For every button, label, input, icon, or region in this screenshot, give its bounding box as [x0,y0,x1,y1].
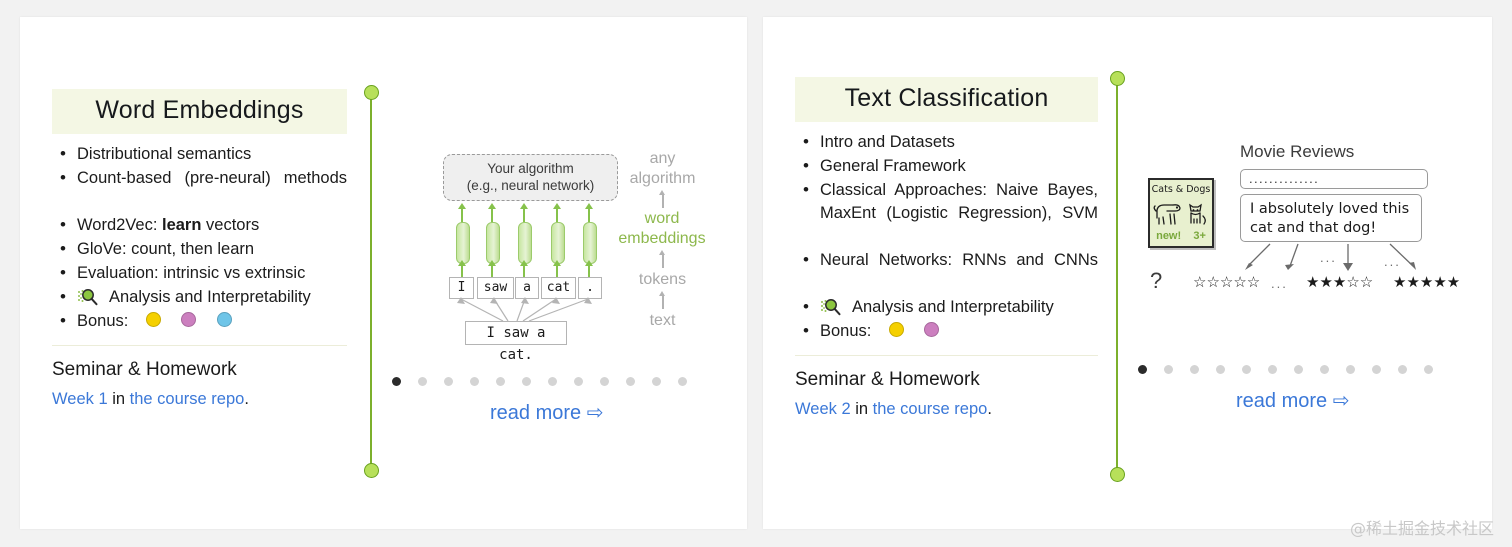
token-arrow-up [523,265,525,277]
embedding-bar [456,222,470,264]
timeline-node-top[interactable] [364,85,379,100]
arrow-ellipsis: ... [1384,254,1401,269]
card-text-column: Word Embeddings Distributional semantics… [52,89,347,409]
week-line: Week 2 in the course repo. [795,400,1098,419]
timeline-line [370,92,372,470]
stack-arrow [662,254,664,268]
list-item[interactable]: Count-based (pre-neural) methods [52,167,347,213]
card-title-band: Text Classification [795,77,1098,122]
week-link[interactable]: Week 1 [52,390,108,408]
carousel-pager[interactable] [392,377,687,386]
list-item-label: GloVe: count, then learn [77,240,254,258]
list-item[interactable]: Neural Networks: RNNs and CNNs [795,249,1098,295]
read-more-link[interactable]: read more ⇨ [1236,388,1349,413]
list-item-label: Bonus: [820,322,871,340]
pager-dot[interactable] [1138,365,1147,374]
section-divider [52,345,347,346]
list-item-label: General Framework [820,157,966,175]
list-item[interactable]: Evaluation: intrinsic vs extrinsic [52,262,347,285]
pager-dot[interactable] [1346,365,1355,374]
watermark: @稀土掘金技术社区 [1350,515,1494,539]
pager-dot[interactable] [1216,365,1225,374]
stack-label-text: text [615,311,710,331]
list-item-label: Distributional semantics [77,145,251,163]
rating-ellipsis: ... [1271,276,1288,291]
poster-animals-icon [1153,198,1209,228]
review-text-line1: I absolutely loved this [1250,200,1418,219]
timeline-node-bottom[interactable] [364,463,379,478]
pager-dot[interactable] [652,377,661,386]
embedding-arrow-up [523,208,525,222]
card-text-column: Text Classification Intro and Datasets G… [795,77,1098,419]
list-item-label: Evaluation: intrinsic vs extrinsic [77,264,305,282]
seminar-heading: Seminar & Homework [52,359,347,381]
figure-movie-reviews: Cats & Dogs [1148,142,1468,322]
pager-dot[interactable] [1320,365,1329,374]
pager-dot[interactable] [600,377,609,386]
pager-dot[interactable] [678,377,687,386]
pager-dot[interactable] [1294,365,1303,374]
pager-dot[interactable] [626,377,635,386]
list-item[interactable]: Bonus: [795,320,1098,343]
list-item-label: Word2Vec: [77,216,162,234]
section-divider [795,355,1098,356]
embedding-arrow-up [491,208,493,222]
week-end-text: . [244,390,249,408]
review-placeholder-box: .............. [1240,169,1428,189]
week-link[interactable]: Week 2 [795,400,851,418]
course-card-text-classification[interactable]: Text Classification Intro and Datasets G… [763,17,1492,529]
list-item[interactable]: General Framework [795,155,1098,178]
list-item[interactable]: Classical Approaches: Naive Bayes, MaxEn… [795,179,1098,248]
page-title: Word Embeddings [95,96,303,124]
timeline-line [1116,78,1118,474]
poster-title: Cats & Dogs [1150,184,1212,195]
pager-dot[interactable] [1372,365,1381,374]
embedding-arrow-up [588,208,590,222]
course-card-word-embeddings[interactable]: Word Embeddings Distributional semantics… [20,17,747,529]
bonus-dot-yellow[interactable] [889,322,904,337]
poster-cats-and-dogs: Cats & Dogs [1148,178,1214,248]
list-item[interactable]: Analysis and Interpretability [795,296,1098,319]
timeline-node-bottom[interactable] [1110,467,1125,482]
rating-stars-three: ★★★☆☆ [1306,273,1373,291]
list-item-label: Analysis and Interpretability [852,298,1054,316]
pager-dot[interactable] [1164,365,1173,374]
magnifier-icon [820,298,846,316]
stack-arrow [662,194,664,208]
week-end-text: . [987,400,992,418]
pager-dot[interactable] [574,377,583,386]
movie-reviews-heading: Movie Reviews [1240,142,1354,162]
stack-arrow [662,295,664,309]
list-item[interactable]: Intro and Datasets [795,131,1098,154]
list-item[interactable]: Distributional semantics [52,143,347,166]
pager-dot[interactable] [470,377,479,386]
bonus-dot-pink[interactable] [924,322,939,337]
embedding-arrow-up [461,208,463,222]
pager-dot[interactable] [392,377,401,386]
timeline-node-top[interactable] [1110,71,1125,86]
pager-dot[interactable] [418,377,427,386]
token-arrow-up [556,265,558,277]
pager-dot[interactable] [1268,365,1277,374]
bonus-dot-yellow[interactable] [146,312,161,327]
bonus-dot-blue[interactable] [217,312,232,327]
stack-label-embeddings: embeddings [611,229,713,249]
list-item[interactable]: Bonus: [52,310,347,333]
stack-label-algorithm: algorithm [615,169,710,189]
pager-dot[interactable] [1424,365,1433,374]
embedding-bar [518,222,532,264]
review-text-line2: cat and that dog! [1250,219,1418,238]
algorithm-box: Your algorithm (e.g., neural network) [443,154,618,201]
list-item-label: Count-based (pre-neural) methods [77,169,347,187]
page-root: Word Embeddings Distributional semantics… [0,0,1512,547]
list-item-label: Intro and Datasets [820,133,955,151]
tokenization-arrows [405,295,635,323]
carousel-pager[interactable] [1138,365,1433,374]
pager-dot[interactable] [1398,365,1407,374]
course-repo-link[interactable]: the course repo [873,400,988,418]
stack-label-word: word [611,209,713,229]
algorithm-box-line1: Your algorithm [453,160,608,177]
course-repo-link[interactable]: the course repo [130,390,245,408]
embedding-bar [486,222,500,264]
week-mid-text: in [851,400,873,418]
list-item[interactable]: Analysis and Interpretability [52,286,347,309]
pager-dot[interactable] [444,377,453,386]
pager-dot[interactable] [1242,365,1251,374]
token-arrow-up [491,265,493,277]
algorithm-box-line2: (e.g., neural network) [453,177,608,194]
rating-stars-five: ★★★★★ [1393,273,1460,291]
page-title: Text Classification [845,84,1049,112]
topic-list: Distributional semantics Count-based (pr… [52,143,347,333]
bonus-dot-pink[interactable] [181,312,196,327]
stack-label-tokens: tokens [615,270,710,290]
list-item-label-suffix: vectors [201,216,259,234]
token-arrow-up [461,265,463,277]
rating-stars-zero: ☆☆☆☆☆ [1193,273,1260,291]
sentence-box: I saw a cat. [465,321,567,345]
list-item[interactable]: Word2Vec: learn vectors [52,214,347,237]
week-line: Week 1 in the course repo. [52,390,347,409]
poster-footer: new! 3+ [1150,230,1212,242]
review-text: I absolutely loved this cat and that dog… [1250,200,1418,238]
week-mid-text: in [108,390,130,408]
stack-label-word-embeddings: word embeddings [611,209,713,249]
list-item-emphasis: learn [162,216,201,234]
list-item-label: Bonus: [77,312,128,330]
magnifier-icon [77,288,103,306]
figure-word-embeddings: Your algorithm (e.g., neural network) I [405,137,715,357]
list-item-label: Analysis and Interpretability [109,288,311,306]
stack-label-any: any [615,149,710,169]
embedding-bar [583,222,597,264]
pager-dot[interactable] [496,377,505,386]
arrow-ellipsis: ... [1320,250,1337,265]
pager-dot[interactable] [522,377,531,386]
list-item-label: Neural Networks: RNNs and CNNs [820,251,1098,269]
question-mark: ? [1150,268,1162,294]
poster-new-badge: new! [1156,230,1181,242]
poster-age-badge: 3+ [1193,230,1206,242]
rating-arrows [1218,242,1468,274]
pager-dot[interactable] [548,377,557,386]
list-item-label: Classical Approaches: Naive Bayes, MaxEn… [820,181,1098,222]
read-more-link[interactable]: read more ⇨ [490,400,603,425]
topic-list: Intro and Datasets General Framework Cla… [795,131,1098,343]
pager-dot[interactable] [1190,365,1199,374]
card-title-band: Word Embeddings [52,89,347,134]
seminar-heading: Seminar & Homework [795,369,1098,391]
list-item[interactable]: GloVe: count, then learn [52,238,347,261]
token-arrow-up [588,265,590,277]
stack-label-any-algorithm: any algorithm [615,149,710,189]
embedding-bar [551,222,565,264]
embedding-arrow-up [556,208,558,222]
